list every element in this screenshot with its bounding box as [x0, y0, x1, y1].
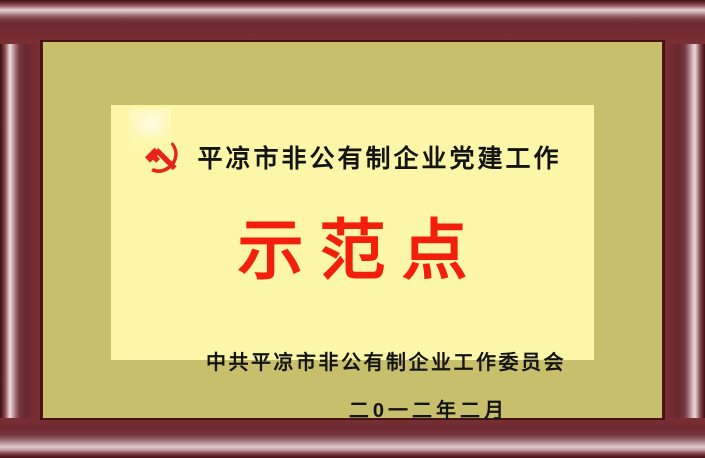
cpc-hammer-sickle-emblem-icon	[143, 138, 185, 180]
award-plaque: 平凉市非公有制企业党建工作 示范点 中共平凉市非公有制企业工作委员会 二0一二年…	[0, 0, 705, 458]
plaque-panel: 平凉市非公有制企业党建工作 示范点 中共平凉市非公有制企业工作委员会 二0一二年…	[111, 105, 594, 360]
plaque-issuer: 中共平凉市非公有制企业工作委员会	[206, 353, 566, 373]
plaque-title-row: 平凉市非公有制企业党建工作	[111, 138, 594, 180]
plaque-content: 平凉市非公有制企业党建工作 示范点 中共平凉市非公有制企业工作委员会 二0一二年…	[111, 105, 594, 360]
plaque-date: 二0一二年二月	[349, 401, 508, 421]
plaque-title: 平凉市非公有制企业党建工作	[197, 147, 561, 172]
plaque-headline: 示范点	[111, 217, 594, 283]
plaque-mat: 平凉市非公有制企业党建工作 示范点 中共平凉市非公有制企业工作委员会 二0一二年…	[43, 42, 662, 418]
